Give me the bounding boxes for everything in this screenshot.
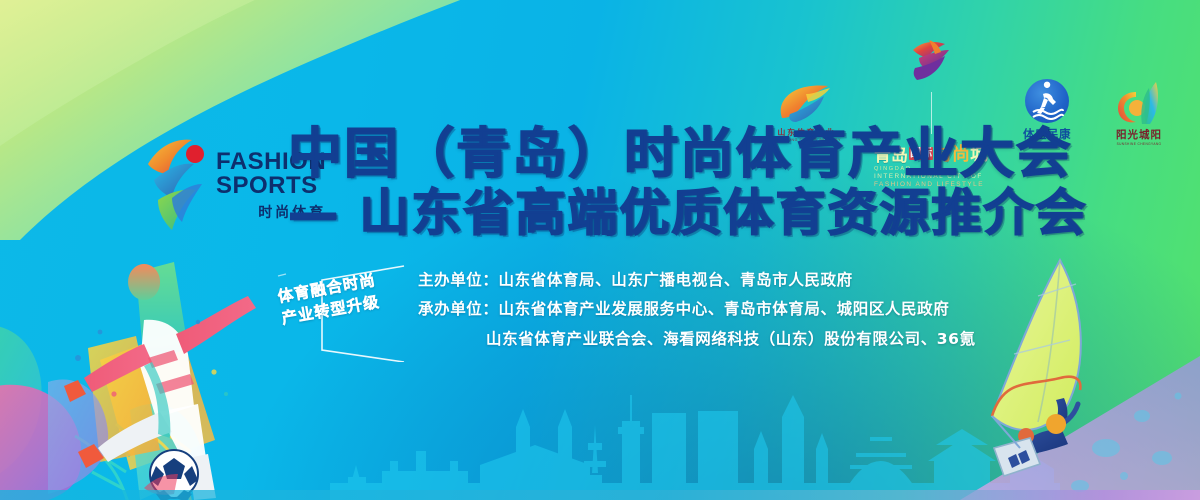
- organizer-row: 山东省体育产业联合会、海看网络科技（山东）股份有限公司、36氪: [418, 325, 1038, 354]
- tropical-leaves-illustration: [0, 210, 310, 500]
- organizer-value: 山东省体育局、山东广播电视台、青岛市人民政府: [499, 266, 1038, 295]
- sub-title: — 山东省高端优质体育资源推介会: [288, 186, 1087, 241]
- fashion-sports-ribbon-icon: [142, 134, 214, 238]
- yangguang-chengyang-cn: 阳光城阳: [1116, 127, 1162, 142]
- soccer-player-illustration: [48, 262, 308, 500]
- qingdao-fashion-city-icon: [907, 36, 955, 84]
- footer-gradient-strip: [0, 490, 1200, 500]
- organizer-label: 主办单位：: [418, 266, 499, 295]
- organizer-value: 山东省体育产业联合会、海看网络科技（山东）股份有限公司、36氪: [486, 325, 1038, 354]
- main-title: 中国（青岛）时尚体育产业大会: [288, 124, 1087, 184]
- organizers-block: 主办单位： 山东省体育局、山东广播电视台、青岛市人民政府 承办单位： 山东省体育…: [418, 266, 1038, 354]
- qingdao-skyline-silhouette: [330, 365, 1060, 500]
- tisheng-minkang-icon: [1025, 79, 1069, 123]
- yangguang-chengyang-en: SUNSHINE CHENGYANG: [1117, 142, 1162, 146]
- sponsor-yangguang-chengyang: 阳光城阳 SUNSHINE CHENGYANG: [1106, 80, 1172, 146]
- shandong-sports-industry-icon: [776, 84, 838, 124]
- fashion-sports-logo: FASHION SPORTS 时尚体育: [142, 134, 302, 238]
- yangguang-chengyang-icon: [1116, 80, 1162, 124]
- slogan-block: 体育融合时尚 产业转型升级: [276, 262, 416, 362]
- poster-canvas: 山东体育产业 SHANDONG SPORTS INDUSTRY: [0, 0, 1200, 500]
- organizer-label: 承办单位：: [418, 295, 499, 324]
- organizer-value: 山东省体育产业发展服务中心、青岛市体育局、城阳区人民政府: [499, 295, 1038, 324]
- title-block: 中国（青岛）时尚体育产业大会 — 山东省高端优质体育资源推介会: [288, 124, 1087, 241]
- organizer-row: 主办单位： 山东省体育局、山东广播电视台、青岛市人民政府: [418, 266, 1038, 295]
- organizer-row: 承办单位： 山东省体育产业发展服务中心、青岛市体育局、城阳区人民政府: [418, 295, 1038, 324]
